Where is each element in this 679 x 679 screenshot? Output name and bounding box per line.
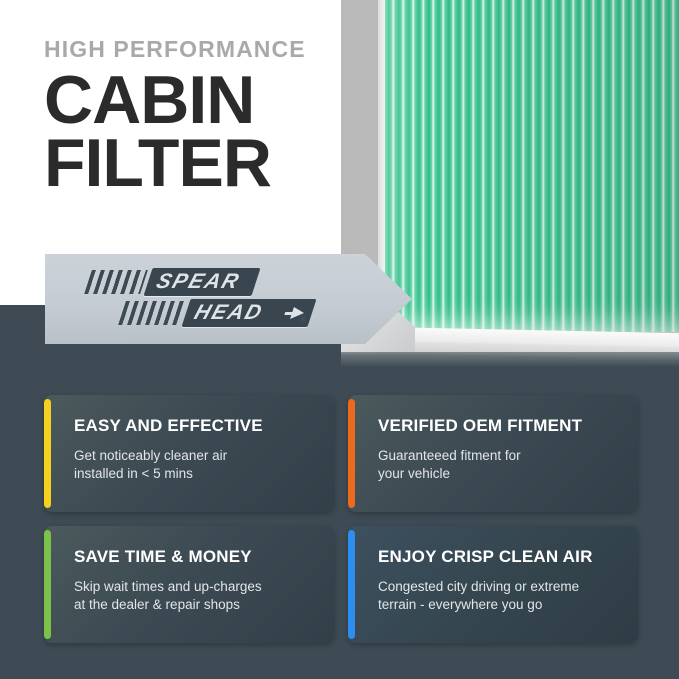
accent-bar-orange: [348, 399, 355, 508]
feature-card-grid: EASY AND EFFECTIVE Get noticeably cleane…: [44, 395, 638, 646]
logo-word-spear: SPEAR: [143, 268, 252, 296]
speed-lines-icon: [118, 301, 188, 325]
feature-card-easy-and-effective: EASY AND EFFECTIVE Get noticeably cleane…: [44, 395, 334, 512]
filter-drop-shadow: [341, 352, 679, 372]
logo-word-head: HEAD: [181, 299, 276, 327]
feature-card-enjoy-crisp-clean-air: ENJOY CRISP CLEAN AIR Congested city dri…: [348, 526, 638, 643]
feature-card-title: VERIFIED OEM FITMENT: [378, 417, 620, 434]
accent-bar-yellow: [44, 399, 51, 508]
logo-bar-bottom: HEAD: [181, 299, 316, 327]
feature-card-body: SAVE TIME & MONEY Skip wait times and up…: [44, 526, 334, 614]
eyebrow-text: HIGH PERFORMANCE: [44, 38, 334, 61]
product-marketing-poster: HIGH PERFORMANCE CABIN FILTER SPEAR HEAD…: [0, 0, 679, 679]
logo-bar-top: SPEAR: [143, 268, 260, 296]
feature-card-title: EASY AND EFFECTIVE: [74, 417, 316, 434]
registered-trademark-mark: ®: [300, 314, 307, 324]
feature-card-title: SAVE TIME & MONEY: [74, 548, 316, 565]
speed-lines-icon: [84, 270, 148, 294]
feature-card-body: EASY AND EFFECTIVE Get noticeably cleane…: [44, 395, 334, 483]
title-line-1: CABIN: [44, 69, 334, 132]
headline-block: HIGH PERFORMANCE CABIN FILTER: [44, 38, 334, 195]
feature-card-body: VERIFIED OEM FITMENT Guaranteeed fitment…: [348, 395, 638, 483]
feature-card-title: ENJOY CRISP CLEAN AIR: [378, 548, 620, 565]
accent-bar-blue: [348, 530, 355, 639]
logo-row-top: SPEAR: [88, 268, 308, 296]
spearhead-logo: SPEAR HEAD ®: [88, 268, 308, 332]
logo-row-bottom: HEAD: [122, 299, 308, 327]
feature-card-verified-oem-fitment: VERIFIED OEM FITMENT Guaranteeed fitment…: [348, 395, 638, 512]
feature-card-text: Congested city driving or extreme terrai…: [378, 578, 620, 614]
feature-card-text: Guaranteeed fitment for your vehicle: [378, 447, 620, 483]
feature-card-text: Skip wait times and up-charges at the de…: [74, 578, 316, 614]
feature-card-save-time-and-money: SAVE TIME & MONEY Skip wait times and up…: [44, 526, 334, 643]
accent-bar-green: [44, 530, 51, 639]
filter-pleats-shading: [385, 0, 679, 332]
feature-card-body: ENJOY CRISP CLEAN AIR Congested city dri…: [348, 526, 638, 614]
title-line-2: FILTER: [44, 132, 334, 195]
feature-card-text: Get noticeably cleaner air installed in …: [74, 447, 316, 483]
